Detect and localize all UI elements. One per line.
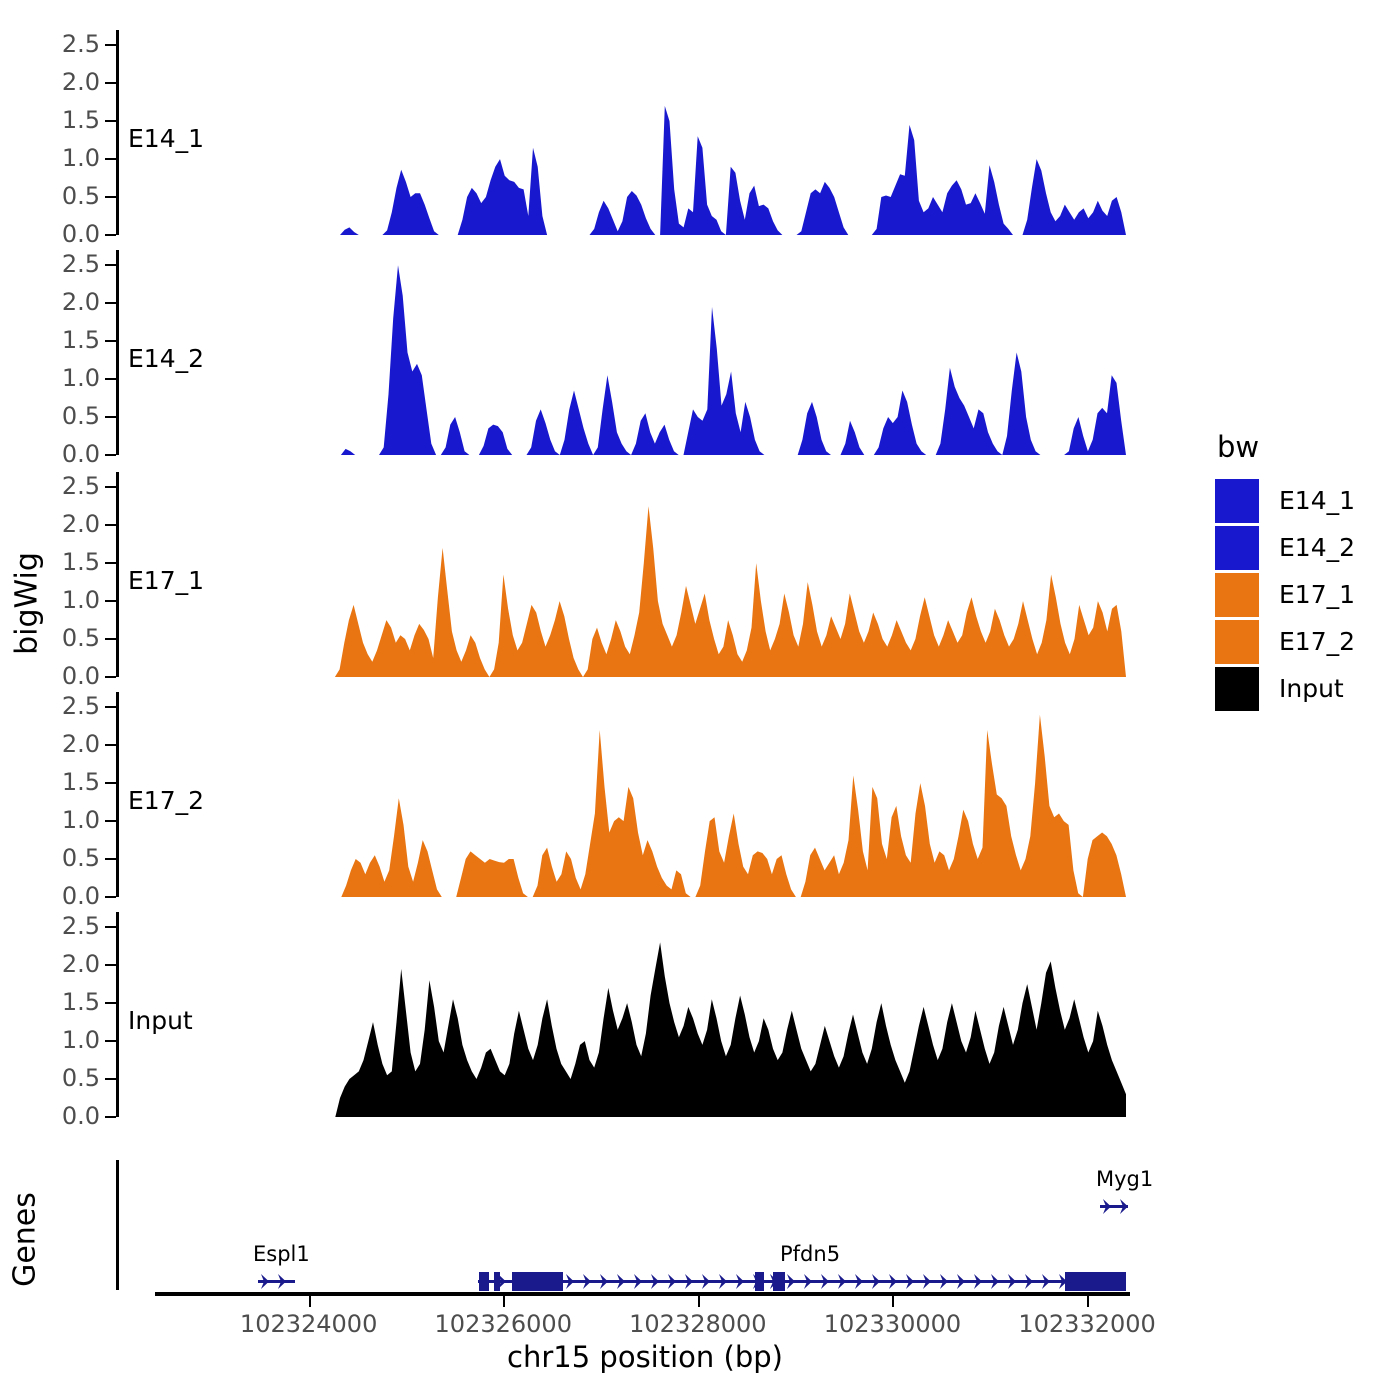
y-tick-label: 2.0 [0,288,100,316]
y-tick-label: 0.5 [0,182,100,210]
coverage-panel-e17_1 [118,472,1128,677]
y-tick-label: 2.5 [0,250,100,278]
legend-item-input[interactable]: Input [1215,666,1390,711]
legend-item-e14_1[interactable]: E14_1 [1215,478,1390,523]
y-tick-label: 0.0 [0,1102,100,1130]
x-axis-line [155,1292,1130,1296]
y-tick-label: 0.0 [0,882,100,910]
x-tick-label: 102326000 [435,1310,572,1338]
y-tick-label: 0.0 [0,662,100,690]
legend-swatch-e17_1 [1215,573,1259,617]
coverage-area-e14_1 [118,30,1128,235]
x-tick-label: 102330000 [824,1310,961,1338]
y-tick-label: 1.0 [0,144,100,172]
y-tick-label: 0.5 [0,1064,100,1092]
y-tick [105,1116,116,1118]
y-tick [105,1002,116,1004]
gene-label-myg1: Myg1 [1096,1167,1153,1191]
legend-label: Input [1279,674,1344,703]
y-tick [105,416,116,418]
y-tick-label: 0.5 [0,402,100,430]
legend-swatch-e14_2 [1215,526,1259,570]
x-tick-label: 102328000 [629,1310,766,1338]
y-tick [105,120,116,122]
y-tick [105,82,116,84]
x-tick [309,1296,311,1307]
coverage-panel-input [118,912,1128,1117]
legend-item-e14_2[interactable]: E14_2 [1215,525,1390,570]
gene-label-espl1: Espl1 [253,1242,310,1266]
x-tick [892,1296,894,1307]
legend-label: E14_2 [1279,533,1355,562]
y-tick [105,196,116,198]
y-tick-label: 2.0 [0,510,100,538]
y-tick [105,1040,116,1042]
y-tick-label: 2.5 [0,472,100,500]
y-tick [105,264,116,266]
gene-model-espl1[interactable] [258,1270,295,1293]
genes-axis-label: Genes [8,1160,43,1320]
y-tick [105,820,116,822]
legend-label: E17_2 [1279,627,1355,656]
y-tick-label: 2.0 [0,68,100,96]
x-tick-label: 102324000 [240,1310,377,1338]
y-tick-label: 0.0 [0,440,100,468]
legend-rows: E14_1E14_2E17_1E17_2Input [1215,478,1390,711]
legend-item-e17_2[interactable]: E17_2 [1215,619,1390,664]
legend-label: E14_1 [1279,486,1355,515]
coverage-panel-e17_2 [118,692,1128,897]
panel-label-e14_2: E14_2 [128,344,204,373]
coverage-area-input [118,912,1128,1117]
coverage-panel-e14_1 [118,30,1128,235]
y-axis-line-e17_2 [116,692,119,897]
y-tick-label: 2.5 [0,692,100,720]
y-tick [105,44,116,46]
legend-swatch-input [1215,667,1259,711]
y-tick [105,524,116,526]
legend-swatch-e17_2 [1215,620,1259,664]
y-tick-label: 2.5 [0,912,100,940]
gene-label-pfdn5: Pfdn5 [780,1242,840,1266]
legend-item-e17_1[interactable]: E17_1 [1215,572,1390,617]
legend-swatch-e14_1 [1215,479,1259,523]
y-tick [105,486,116,488]
y-tick [105,782,116,784]
y-tick [105,378,116,380]
y-tick-label: 1.5 [0,988,100,1016]
gene-model-myg1[interactable] [1100,1195,1128,1218]
y-tick-label: 1.0 [0,586,100,614]
y-tick-label: 0.0 [0,220,100,248]
y-tick [105,454,116,456]
y-axis-line-e14_1 [116,30,119,235]
y-axis-line-input [116,912,119,1117]
y-tick-label: 2.0 [0,950,100,978]
y-tick [105,600,116,602]
y-tick-label: 0.5 [0,624,100,652]
x-tick [503,1296,505,1307]
coverage-panel-e14_2 [118,250,1128,455]
legend-title: bw [1217,430,1390,464]
figure-root: bigWig Genes chr15 position (bp) Espl1Pf… [0,0,1400,1400]
y-tick [105,926,116,928]
panel-label-input: Input [128,1006,193,1035]
gene-model-pfdn5[interactable] [478,1270,1126,1293]
y-tick [105,896,116,898]
y-tick [105,562,116,564]
y-axis-line-e14_2 [116,250,119,455]
y-tick [105,340,116,342]
y-tick-label: 1.0 [0,364,100,392]
y-tick-label: 1.5 [0,768,100,796]
y-tick [105,858,116,860]
y-tick-label: 1.0 [0,806,100,834]
genes-track: Espl1Pfdn5Myg1 [118,1160,1128,1300]
panel-label-e17_2: E17_2 [128,786,204,815]
coverage-area-e14_2 [118,250,1128,455]
y-tick-label: 1.5 [0,326,100,354]
y-axis-line-e17_1 [116,472,119,677]
y-tick-label: 1.5 [0,106,100,134]
legend-label: E17_1 [1279,580,1355,609]
y-tick-label: 1.5 [0,548,100,576]
y-tick [105,234,116,236]
y-tick [105,676,116,678]
y-tick [105,1078,116,1080]
panel-label-e17_1: E17_1 [128,566,204,595]
legend: bw E14_1E14_2E17_1E17_2Input [1215,430,1390,713]
y-tick-label: 2.5 [0,30,100,58]
x-axis-label: chr15 position (bp) [410,1340,880,1374]
y-tick [105,744,116,746]
x-tick [698,1296,700,1307]
panel-label-e14_1: E14_1 [128,124,204,153]
y-tick-label: 0.5 [0,844,100,872]
gene-feature-myg1[interactable] [1100,1195,1128,1222]
y-tick [105,706,116,708]
coverage-area-e17_2 [118,692,1128,897]
coverage-area-e17_1 [118,472,1128,677]
y-tick [105,638,116,640]
y-tick-label: 1.0 [0,1026,100,1054]
x-tick-label: 102332000 [1018,1310,1155,1338]
x-tick [1087,1296,1089,1307]
y-tick [105,302,116,304]
y-tick [105,964,116,966]
y-tick-label: 2.0 [0,730,100,758]
y-tick [105,158,116,160]
